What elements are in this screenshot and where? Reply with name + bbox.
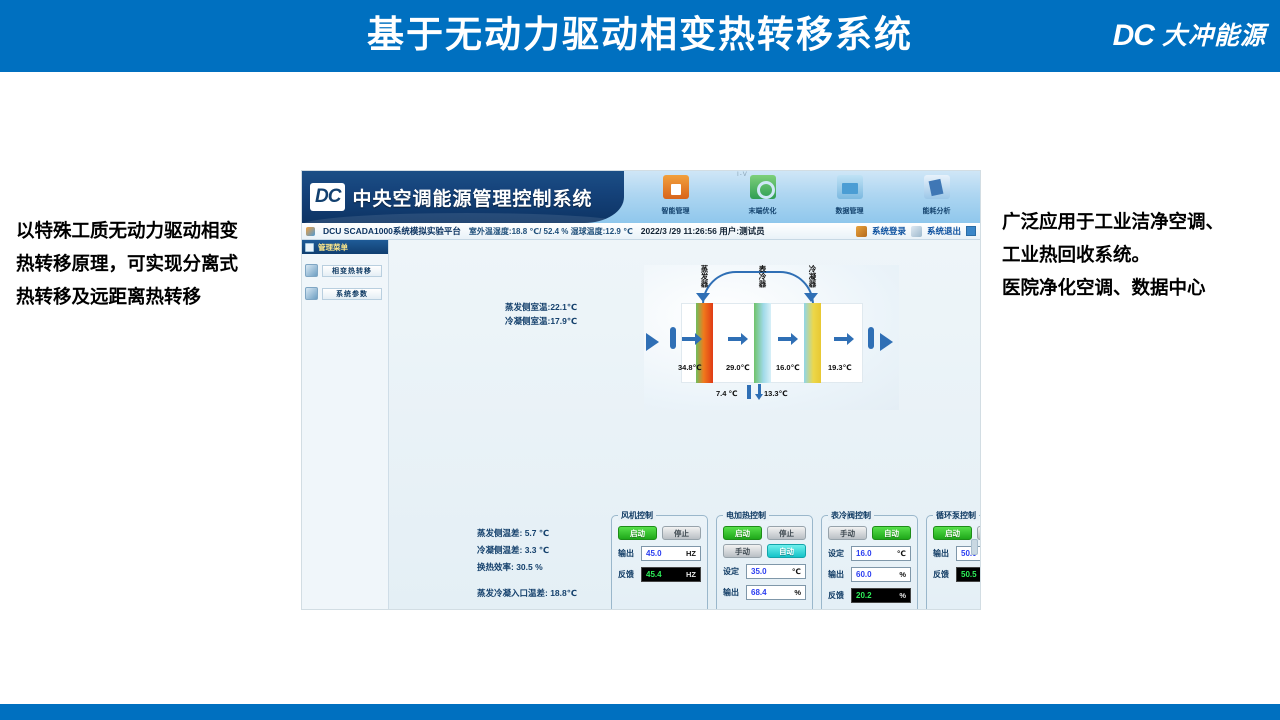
panel-3-field-1: 反馈 50.5 HZ	[927, 561, 981, 582]
scada-screenshot: DC 中央空调能源管理控制系统 Ⅰ-Ⅴ 智能管理 末端优化 数据管理 能耗分析	[301, 170, 981, 610]
app-icon	[306, 227, 315, 236]
heater-stop-button[interactable]: 停止	[767, 526, 806, 540]
heater-output-unit: %	[794, 588, 801, 597]
fan-feedback-value: 45.4	[646, 570, 662, 579]
valve-feedback-label: 反馈	[828, 590, 847, 601]
recycle-icon	[750, 175, 776, 199]
arrow-down-icon-1	[696, 293, 710, 302]
scada-status-bar: DCU SCADA1000系统模拟实验平台 室外温湿度:18.8 ℃/ 52.4…	[302, 223, 980, 240]
stage-temp-2: 16.0℃	[776, 363, 800, 372]
caption-left: 以特殊工质无动力驱动相变 热转移原理，可实现分离式 热转移及远距离热转移	[16, 214, 291, 313]
outdoor-conditions: 室外温湿度:18.8 ℃/ 52.4 % 湿球温度:12.9 ℃	[469, 226, 633, 237]
valve-output-label: 输出	[828, 569, 847, 580]
heater-setpoint-unit: ℃	[792, 567, 801, 576]
pump-start-button[interactable]: 启动	[933, 526, 972, 540]
sidebar-item-label-1: 系统参数	[322, 288, 382, 300]
panel-2-field-0: 设定 16.0 ℃	[822, 540, 917, 561]
menu-icon	[305, 243, 314, 252]
stat-inlet-delta: 蒸发冷凝入口温差: 18.8℃	[477, 585, 577, 602]
scada-nav: 智能管理 末端优化 数据管理 能耗分析	[632, 171, 980, 223]
caption-right-line-2: 工业热回收系统。	[1002, 238, 1274, 271]
heater-output-field[interactable]: 68.4 %	[746, 585, 806, 600]
heater-output-label: 输出	[723, 587, 742, 598]
fan-feedback-label: 反馈	[618, 569, 637, 580]
scada-sidebar: 管理菜单 相变热转移 系统参数	[302, 240, 389, 610]
scada-banner-brand: DC 中央空调能源管理控制系统	[302, 171, 624, 223]
sidebar-item-label-0: 相变热转移	[322, 265, 382, 277]
page-title: 基于无动力驱动相变热转移系统	[0, 6, 1280, 64]
valve-auto-button[interactable]: 自动	[872, 526, 911, 540]
status-actions: 系统登录 系统退出	[856, 225, 980, 237]
window-control-icon[interactable]	[966, 226, 976, 236]
power-icon	[911, 226, 922, 237]
valve-setpoint-value: 16.0	[856, 549, 872, 558]
heater-output-value: 68.4	[751, 588, 767, 597]
heater-manual-button[interactable]: 手动	[723, 544, 762, 558]
inlet-arrow-icon	[646, 333, 659, 351]
datetime-user: 2022/3 /29 11:26:56 用户:测试员	[641, 225, 765, 237]
coil-label-cooling: 表冷器	[756, 265, 768, 288]
control-panels: 风机控制 启动 停止 输出 45.0 HZ 反馈	[611, 515, 981, 610]
panel-title-0: 风机控制	[618, 510, 656, 521]
bottom-temp-1: 13.3℃	[764, 389, 788, 398]
arrow-down-icon-3	[758, 384, 761, 395]
outlet-arrow-icon	[880, 333, 893, 351]
valve-output-unit: %	[899, 570, 906, 579]
panel-0-field-0: 输出 45.0 HZ	[612, 540, 707, 561]
heater-start-button[interactable]: 启动	[723, 526, 762, 540]
panel-cooling-valve-control: 表冷阀控制 手动 自动 设定 16.0 ℃ 输出	[821, 515, 918, 610]
platform-name: DCU SCADA1000系统模拟实验平台	[323, 225, 461, 237]
panel-2-field-1: 输出 60.0 %	[822, 561, 917, 582]
scrollbar-thumb[interactable]	[971, 539, 978, 555]
stage-temp-0: 34.8℃	[678, 363, 702, 372]
valve-output-value: 60.0	[856, 570, 872, 579]
stat-cond-delta: 冷凝侧温差: 3.3 ℃	[477, 542, 577, 559]
divider-bar-icon	[747, 385, 751, 399]
panel-1-button-row-2: 手动 自动	[717, 540, 812, 558]
system-logout-link[interactable]: 系统退出	[927, 225, 961, 237]
coil-condenser	[804, 303, 821, 383]
valve-feedback-value: 20.2	[856, 591, 872, 600]
scada-body: 管理菜单 相变热转移 系统参数 蒸发侧室温:22.1℃ 冷凝侧室温:17.9℃ …	[302, 240, 980, 610]
caption-left-line-3: 热转移及远距离热转移	[16, 280, 291, 313]
stats-spacer	[477, 576, 577, 585]
pump-stop-button[interactable]: 停止	[977, 526, 981, 540]
nav-label-2: 数据管理	[836, 208, 864, 215]
pump-feedback-field: 50.5 HZ	[956, 567, 981, 582]
home-icon	[663, 175, 689, 199]
nav-item-terminal-optimization[interactable]: 末端优化	[724, 175, 802, 218]
sidebar-item-phase-change[interactable]: 相变热转移	[305, 264, 388, 277]
heater-setpoint-value: 35.0	[751, 567, 767, 576]
valve-feedback-unit: %	[899, 591, 906, 600]
scada-banner: DC 中央空调能源管理控制系统 Ⅰ-Ⅴ 智能管理 末端优化 数据管理 能耗分析	[302, 171, 980, 223]
pump-feedback-label: 反馈	[933, 569, 952, 580]
sidebar-item-system-params[interactable]: 系统参数	[305, 287, 388, 300]
fan-output-field[interactable]: 45.0 HZ	[641, 546, 701, 561]
user-icon	[856, 226, 867, 237]
heat-transfer-diagram: 蒸发器 表冷器 冷凝器 34.8℃ 29.0℃ 16.0℃	[644, 265, 899, 410]
valve-setpoint-unit: ℃	[897, 549, 906, 558]
caption-left-line-2: 热转移原理，可实现分离式	[16, 247, 291, 280]
nav-label-3: 能耗分析	[923, 208, 951, 215]
panel-title-3: 循环泵控制	[933, 510, 979, 521]
pump-feedback-value: 50.5	[961, 570, 977, 579]
flow-arrow-icon-1	[682, 337, 696, 341]
valve-feedback-field: 20.2 %	[851, 588, 911, 603]
panel-1-field-1: 输出 68.4 %	[717, 579, 812, 600]
stage-temp-3: 19.3℃	[828, 363, 852, 372]
sidebar-title: 管理菜单	[318, 242, 348, 253]
valve-manual-button[interactable]: 手动	[828, 526, 867, 540]
heater-setpoint-label: 设定	[723, 566, 742, 577]
room-temp-condenser: 冷凝侧室温:17.9℃	[505, 314, 577, 328]
panel-title-2: 表冷阀控制	[828, 510, 874, 521]
panel-electric-heater-control: 电加热控制 启动 停止 手动 自动 设定 35.0 ℃	[716, 515, 813, 610]
nav-item-energy-analysis[interactable]: 能耗分析	[898, 175, 976, 218]
heater-setpoint-field[interactable]: 35.0 ℃	[746, 564, 806, 579]
nav-item-data-management[interactable]: 数据管理	[811, 175, 889, 218]
flow-arrow-icon-2	[728, 337, 742, 341]
brand-mark-icon: DC	[1113, 21, 1154, 51]
panel-0-field-1: 反馈 45.4 HZ	[612, 561, 707, 582]
nav-item-intelligent-management[interactable]: 智能管理	[637, 175, 715, 218]
arrow-down-icon-2	[804, 293, 818, 302]
coil-cooling	[754, 303, 771, 383]
coil-label-condenser: 冷凝器	[806, 265, 818, 288]
brand-logo: DC 大冲能源	[1113, 14, 1266, 58]
scada-banner-title: 中央空调能源管理控制系统	[352, 184, 592, 211]
panel-2-field-2: 反馈 20.2 %	[822, 582, 917, 603]
caption-right-line-3: 医院净化空调、数据中心	[1002, 271, 1274, 304]
caption-right-line-1: 广泛应用于工业洁净空调、	[1002, 205, 1274, 238]
panel-1-field-0: 设定 35.0 ℃	[717, 558, 812, 579]
valve-output-field[interactable]: 60.0 %	[851, 567, 911, 582]
chart-pen-icon	[924, 175, 950, 199]
outlet-damper-icon	[868, 327, 874, 349]
system-login-link[interactable]: 系统登录	[872, 225, 906, 237]
fan-output-value: 45.0	[646, 549, 662, 558]
stage-temp-1: 29.0℃	[726, 363, 750, 372]
scada-logo-icon: DC	[310, 183, 345, 211]
brand-name: 大冲能源	[1162, 24, 1266, 49]
nav-label-0: 智能管理	[662, 208, 690, 215]
valve-setpoint-field[interactable]: 16.0 ℃	[851, 546, 911, 561]
flow-arrow-icon-4	[834, 337, 848, 341]
fan-output-unit: HZ	[686, 549, 696, 558]
heater-auto-button[interactable]: 自动	[767, 544, 806, 558]
nav-label-1: 末端优化	[749, 208, 777, 215]
sidebar-header: 管理菜单	[302, 240, 388, 254]
chart-icon	[305, 264, 318, 277]
caption-right: 广泛应用于工业洁净空调、 工业热回收系统。 医院净化空调、数据中心	[1002, 205, 1274, 304]
coil-label-evaporator: 蒸发器	[698, 265, 710, 288]
panel-fan-control: 风机控制 启动 停止 输出 45.0 HZ 反馈	[611, 515, 708, 610]
fan-feedback-field: 45.4 HZ	[641, 567, 701, 582]
stats-block: 蒸发侧温差: 5.7 ℃ 冷凝侧温差: 3.3 ℃ 换热效率: 30.5 % 蒸…	[477, 525, 577, 602]
caption-left-line-1: 以特殊工质无动力驱动相变	[16, 214, 291, 247]
settings-icon	[305, 287, 318, 300]
pump-output-label: 输出	[933, 548, 952, 559]
slide-footer-bar	[0, 704, 1280, 720]
room-temperature-labels: 蒸发侧室温:22.1℃ 冷凝侧室温:17.9℃	[505, 300, 577, 328]
stat-efficiency: 换热效率: 30.5 %	[477, 559, 577, 576]
panel-circulation-pump-control: 循环泵控制 启动 停止 输出 50.0 HZ 反馈	[926, 515, 981, 610]
fan-feedback-unit: HZ	[686, 570, 696, 579]
room-temp-evaporator: 蒸发侧室温:22.1℃	[505, 300, 577, 314]
flow-arrow-icon-3	[778, 337, 792, 341]
fan-start-button[interactable]: 启动	[618, 526, 657, 540]
panel-title-1: 电加热控制	[723, 510, 769, 521]
valve-setpoint-label: 设定	[828, 548, 847, 559]
slide-header-bar: 基于无动力驱动相变热转移系统 DC 大冲能源	[0, 0, 1280, 72]
inlet-damper-icon	[670, 327, 676, 349]
stat-evap-delta: 蒸发侧温差: 5.7 ℃	[477, 525, 577, 542]
fan-stop-button[interactable]: 停止	[662, 526, 701, 540]
fan-output-label: 输出	[618, 548, 637, 559]
folder-icon	[837, 175, 863, 199]
scada-canvas: 蒸发侧室温:22.1℃ 冷凝侧室温:17.9℃ 蒸发器 表冷器 冷凝器	[389, 240, 980, 610]
bottom-temp-0: 7.4 ℃	[716, 389, 738, 398]
